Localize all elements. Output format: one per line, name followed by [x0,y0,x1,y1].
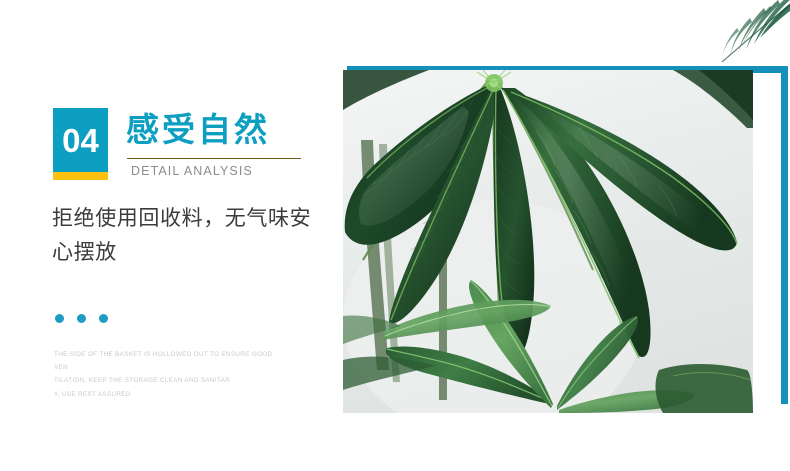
left-text-column: 04 感受自然 DETAIL ANALYSIS 拒绝使用回收料，无气味安心摆放 … [0,0,340,471]
fine-print-caption: THE SIDE OF THE BASKET IS HOLLOWED OUT T… [54,348,286,401]
caption-line-3: Y, USE REST ASSURED [54,388,286,401]
product-photo [343,70,753,413]
section-number-underline [53,172,108,180]
palm-leaf-icon [690,0,790,72]
photo-column [330,0,790,471]
page-title: 感受自然 [126,110,270,150]
dot-icon [55,314,64,323]
slide-root: 04 感受自然 DETAIL ANALYSIS 拒绝使用回收料，无气味安心摆放 … [0,0,790,471]
caption-line-2: TILATION, KEEP THE STORAGE CLEAN AND SAN… [54,374,286,387]
caption-line-1: THE SIDE OF THE BASKET IS HOLLOWED OUT T… [54,348,286,374]
title-divider [127,158,301,159]
page-subtitle-en: DETAIL ANALYSIS [131,164,253,178]
section-number-badge: 04 [53,108,108,172]
dot-separator [55,314,108,323]
dot-icon [77,314,86,323]
dot-icon [99,314,108,323]
description-text: 拒绝使用回收料，无气味安心摆放 [52,202,314,270]
